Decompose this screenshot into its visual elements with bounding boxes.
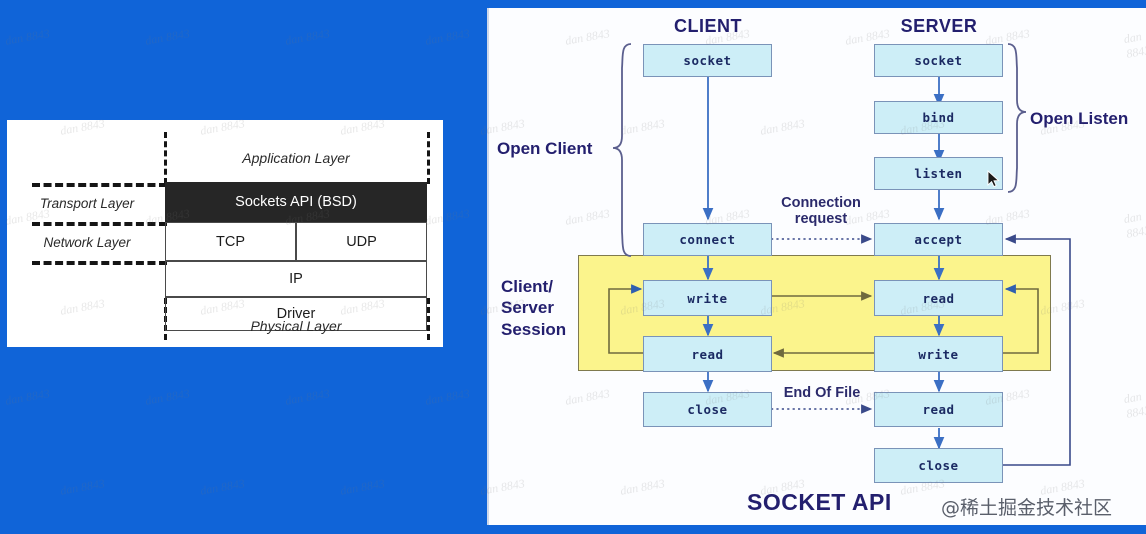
- flow-box-client-read[interactable]: read: [643, 336, 772, 372]
- flow-box-server-bind[interactable]: bind: [874, 101, 1003, 134]
- row-udp: UDP: [296, 222, 427, 261]
- label-session: Client/ Server Session: [501, 276, 566, 340]
- right-dashed-boundary: [427, 132, 430, 184]
- row-application-layer: Application Layer: [165, 134, 427, 182]
- diagram-title: SOCKET API: [747, 489, 892, 516]
- column-heading-client: CLIENT: [648, 16, 768, 37]
- watermark-tile: dan 8843: [4, 26, 51, 49]
- flow-box-server-accept[interactable]: accept: [874, 223, 1003, 256]
- flow-connectors: [489, 8, 1146, 525]
- label-session-line2: Server: [501, 297, 566, 318]
- flow-box-client-close[interactable]: close: [643, 392, 772, 427]
- annotation-end-of-file: End Of File: [767, 386, 877, 402]
- watermark-tile: dan 8843: [59, 476, 106, 499]
- watermark-tile: dan 8843: [144, 26, 191, 49]
- brand-watermark: @稀土掘金技术社区: [941, 493, 1112, 520]
- flow-box-client-write[interactable]: write: [643, 280, 772, 316]
- label-open-listen: Open Listen: [1030, 108, 1128, 129]
- flow-box-server-write[interactable]: write: [874, 336, 1003, 372]
- label-network-layer: Network Layer: [7, 223, 167, 261]
- watermark-tile: dan 8843: [284, 386, 331, 409]
- annotation-connection-request-line1: Connection: [761, 196, 881, 212]
- row-ip: IP: [165, 261, 427, 297]
- annotation-connection-request-line2: request: [761, 212, 881, 228]
- flow-box-server-listen[interactable]: listen: [874, 157, 1003, 190]
- row-tcp: TCP: [165, 222, 296, 261]
- flow-box-client-connect[interactable]: connect: [643, 223, 772, 256]
- flow-box-server-read-eof[interactable]: read: [874, 392, 1003, 427]
- column-heading-server: SERVER: [879, 16, 999, 37]
- label-open-client: Open Client: [497, 138, 592, 159]
- watermark-tile: dan 8843: [424, 386, 471, 409]
- watermark-tile: dan 8843: [199, 476, 246, 499]
- flow-box-server-read[interactable]: read: [874, 280, 1003, 316]
- row-sockets-api: Sockets API (BSD): [165, 182, 427, 222]
- annotation-connection-request: Connection request: [761, 196, 881, 228]
- label-session-line3: Session: [501, 319, 566, 340]
- right-dashed-boundary-bottom: [427, 298, 430, 340]
- label-transport-layer: Transport Layer: [7, 184, 167, 222]
- watermark-tile: dan 8843: [339, 476, 386, 499]
- flow-box-client-socket[interactable]: socket: [643, 44, 772, 77]
- watermark-tile: dan 8843: [144, 386, 191, 409]
- flow-box-server-close[interactable]: close: [874, 448, 1003, 483]
- label-session-line1: Client/: [501, 276, 566, 297]
- watermark-tile: dan 8843: [4, 386, 51, 409]
- flow-box-server-socket[interactable]: socket: [874, 44, 1003, 77]
- network-layer-stack-panel: Application Layer Sockets API (BSD) TCP …: [7, 120, 443, 347]
- watermark-tile: dan 8843: [284, 26, 331, 49]
- row-physical-layer: Physical Layer: [165, 309, 427, 343]
- network-divider-bottom: [32, 261, 167, 265]
- socket-api-diagram-panel: CLIENT SERVER socket connect write read …: [487, 8, 1146, 525]
- watermark-tile: dan 8843: [424, 26, 471, 49]
- layer-table: Application Layer Sockets API (BSD) TCP …: [7, 120, 443, 347]
